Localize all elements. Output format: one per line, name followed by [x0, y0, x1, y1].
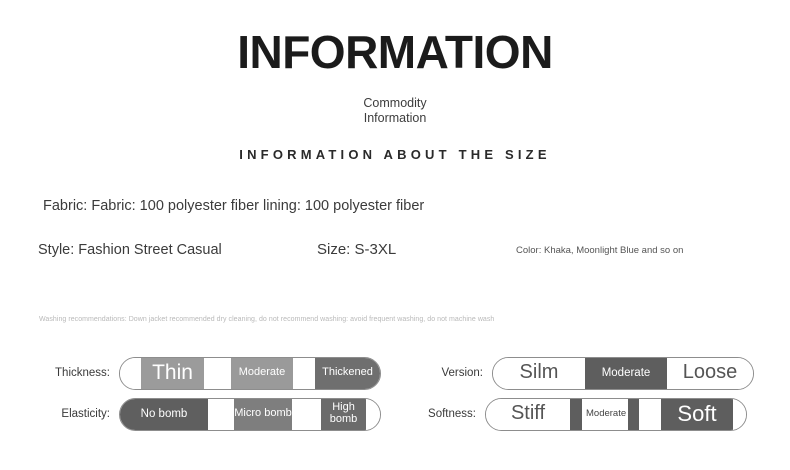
subtitle-line-1: Commodity	[363, 96, 426, 110]
thickness-gap-2	[293, 358, 315, 389]
elasticity-option-high-bomb[interactable]: High bomb	[321, 399, 366, 430]
attribute-row-softness: Softness: Stiff Moderate Soft	[404, 397, 747, 431]
thickness-option-thickened[interactable]: Thickened	[315, 358, 380, 389]
thickness-option-thin[interactable]: Thin	[141, 358, 204, 389]
elasticity-gap-2	[292, 399, 321, 430]
attribute-label-version: Version:	[411, 367, 483, 379]
attribute-row-thickness: Thickness: Thin Moderate Thickened	[38, 356, 381, 390]
version-option-silm[interactable]: Silm	[493, 358, 585, 389]
spec-fabric: Fabric: Fabric: 100 polyester fiber lini…	[43, 198, 424, 214]
thickness-left-cap	[120, 358, 141, 389]
thickness-scale[interactable]: Thin Moderate Thickened	[119, 357, 381, 390]
version-scale[interactable]: Silm Moderate Loose	[492, 357, 754, 390]
elasticity-right-cap	[366, 399, 380, 430]
spec-size: Size: S-3XL	[317, 241, 396, 258]
version-option-loose[interactable]: Loose	[667, 358, 753, 389]
attribute-label-thickness: Thickness:	[38, 367, 110, 379]
thickness-gap-1	[204, 358, 231, 389]
page-title: INFORMATION	[0, 28, 790, 76]
spec-color: Color: Khaka, Moonlight Blue and so on	[516, 245, 683, 256]
softness-option-moderate[interactable]: Moderate	[582, 399, 628, 430]
thickness-option-moderate[interactable]: Moderate	[231, 358, 293, 389]
softness-tick-1	[570, 399, 582, 430]
subtitle-line-2: Information	[0, 111, 790, 126]
attribute-label-elasticity: Elasticity:	[38, 408, 110, 420]
softness-right-cap	[733, 399, 746, 430]
version-option-moderate[interactable]: Moderate	[585, 358, 667, 389]
commodity-subtitle: Commodity Information	[0, 96, 790, 126]
elasticity-gap-1	[208, 399, 234, 430]
softness-gap-white	[639, 399, 661, 430]
attribute-row-version: Version: Silm Moderate Loose	[411, 356, 754, 390]
elasticity-scale[interactable]: No bomb Micro bomb High bomb	[119, 398, 381, 431]
attribute-row-elasticity: Elasticity: No bomb Micro bomb High bomb	[38, 397, 381, 431]
softness-option-stiff[interactable]: Stiff	[486, 399, 570, 430]
section-heading: INFORMATION ABOUT THE SIZE	[0, 147, 790, 162]
softness-tick-2	[628, 399, 639, 430]
spec-style: Style: Fashion Street Casual	[38, 242, 222, 258]
softness-scale[interactable]: Stiff Moderate Soft	[485, 398, 747, 431]
elasticity-option-micro-bomb[interactable]: Micro bomb	[234, 399, 292, 430]
elasticity-option-no-bomb[interactable]: No bomb	[120, 399, 208, 430]
attribute-label-softness: Softness:	[404, 408, 476, 420]
softness-option-soft[interactable]: Soft	[661, 399, 733, 430]
washing-recommendations: Washing recommendations: Down jacket rec…	[39, 316, 494, 323]
